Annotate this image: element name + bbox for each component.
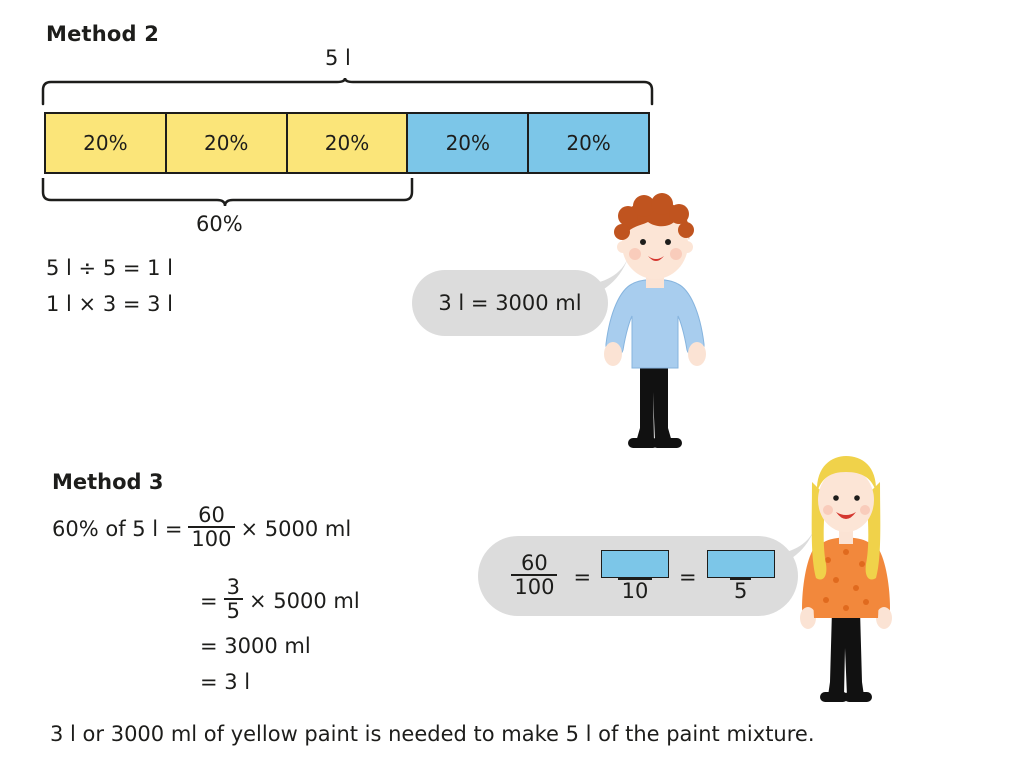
bar-cell: 20% — [408, 114, 529, 172]
equals-sign-2: = — [679, 565, 697, 589]
fraction-denominator: 100 — [511, 574, 557, 598]
missing-numerator-box[interactable] — [601, 550, 669, 578]
method-3-title: Method 3 — [52, 470, 164, 494]
equals-sign-1: = — [573, 565, 591, 589]
method-3-line-2: = 3 5 × 5000 ml — [200, 578, 360, 624]
boy-character-icon — [596, 192, 712, 458]
fraction-60-over-100: 60 100 — [511, 552, 557, 598]
boy-speech-text: 3 l = 3000 ml — [438, 291, 581, 315]
girl-character-icon — [796, 452, 900, 710]
fraction-60-over-100: 60 100 — [188, 504, 234, 550]
fraction-denominator: 5 — [730, 578, 751, 603]
method-3-line-1-prefix: 60% of 5 l = — [52, 517, 182, 541]
bar-cell: 20% — [529, 114, 648, 172]
method-2-working-line-2: 1 l × 3 = 3 l — [46, 292, 173, 316]
percentage-bar: 20% 20% 20% 20% 20% — [44, 112, 650, 174]
fraction-numerator: 3 — [224, 576, 243, 598]
fraction-numerator: 60 — [195, 504, 228, 526]
top-brace-icon — [40, 78, 655, 106]
method-3-line-1: 60% of 5 l = 60 100 × 5000 ml — [52, 506, 351, 552]
method-3-line-2-suffix: × 5000 ml — [249, 589, 360, 613]
bar-cell: 20% — [167, 114, 288, 172]
fraction-denominator: 5 — [224, 598, 243, 622]
fraction-blank-over-10: 10 — [601, 550, 669, 603]
fraction-denominator: 100 — [188, 526, 234, 550]
conclusion-text: 3 l or 3000 ml of yellow paint is needed… — [50, 722, 815, 746]
girl-speech-content: 60 100 = 10 = 5 — [500, 542, 780, 612]
fraction-numerator: 60 — [518, 552, 551, 574]
bar-cell: 20% — [46, 114, 167, 172]
method-3-line-4: = 3 l — [200, 670, 250, 694]
sixty-percent-label: 60% — [196, 212, 243, 236]
total-volume-label: 5 l — [325, 46, 351, 70]
bar-cell: 20% — [288, 114, 409, 172]
method-2-title: Method 2 — [46, 22, 159, 46]
method-3-line-2-prefix: = — [200, 589, 218, 613]
missing-numerator-box[interactable] — [707, 550, 775, 578]
bottom-brace-icon — [40, 178, 415, 208]
method-3-line-3: = 3000 ml — [200, 634, 311, 658]
fraction-denominator: 10 — [618, 578, 653, 603]
fraction-blank-over-5: 5 — [707, 550, 775, 603]
fraction-3-over-5: 3 5 — [224, 576, 243, 622]
boy-speech-bubble: 3 l = 3000 ml — [412, 270, 608, 336]
method-3-line-1-suffix: × 5000 ml — [241, 517, 352, 541]
method-2-working-line-1: 5 l ÷ 5 = 1 l — [46, 256, 173, 280]
